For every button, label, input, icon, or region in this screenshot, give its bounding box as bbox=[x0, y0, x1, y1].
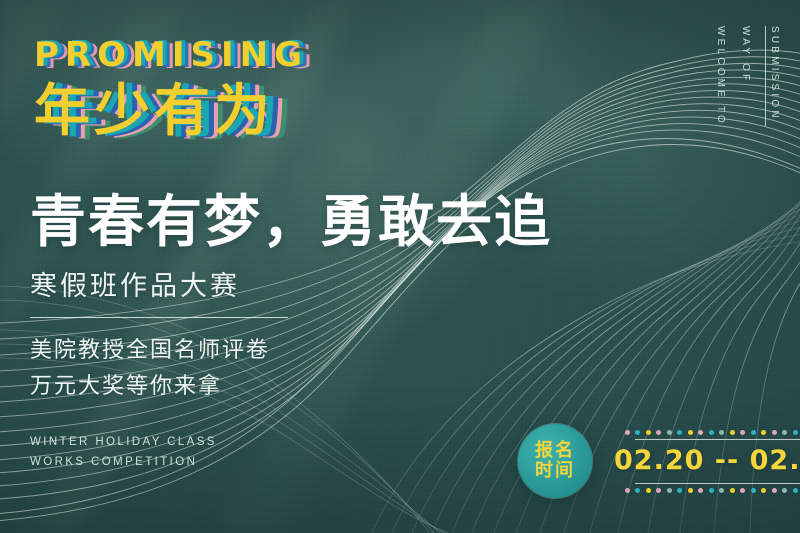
poster-canvas: PROMISING PROMISING PROMISING PROMISING … bbox=[0, 0, 800, 533]
dot-2 bbox=[635, 488, 640, 493]
dot-row-top bbox=[625, 430, 800, 435]
logo-english-text: PROMISING bbox=[34, 35, 308, 75]
english-caption-line-2: WORKS COMPETITION bbox=[30, 452, 217, 472]
dot-6 bbox=[677, 488, 682, 493]
dot-10 bbox=[719, 488, 724, 493]
headline: 青春有梦，勇敢去追 bbox=[30, 193, 690, 252]
vertical-caption-line-3: SUBMISSION bbox=[765, 26, 780, 126]
dot-14 bbox=[761, 430, 766, 435]
dot-9 bbox=[709, 430, 714, 435]
date-range-text: 02.20 -- 02.28 bbox=[614, 444, 800, 479]
dot-12 bbox=[740, 430, 745, 435]
dot-8 bbox=[698, 488, 703, 493]
logo-block: PROMISING PROMISING PROMISING PROMISING … bbox=[34, 38, 308, 150]
dot-4 bbox=[656, 430, 661, 435]
date-range-block: 02.20 -- 02.28 bbox=[614, 430, 800, 493]
dot-4 bbox=[656, 488, 661, 493]
registration-badge: 报名 时间 bbox=[518, 424, 592, 498]
bullet-item-1: 美院教授全国名师评卷 bbox=[30, 332, 690, 368]
divider-line bbox=[30, 317, 288, 318]
dot-11 bbox=[730, 488, 735, 493]
dot-13 bbox=[751, 430, 756, 435]
dot-1 bbox=[625, 430, 630, 435]
dot-14 bbox=[761, 488, 766, 493]
dot-7 bbox=[688, 430, 693, 435]
subheadline: 寒假班作品大赛 bbox=[30, 264, 690, 303]
registration-badge-line-2: 时间 bbox=[535, 461, 575, 481]
dot-17 bbox=[793, 430, 798, 435]
vertical-caption: SUBMISSION WAY OF WELCOME TO bbox=[715, 26, 780, 126]
dot-15 bbox=[772, 430, 777, 435]
dot-17 bbox=[793, 488, 798, 493]
rule-bottom bbox=[635, 483, 800, 484]
dot-7 bbox=[688, 488, 693, 493]
logo-chinese-text: 年少有为 bbox=[34, 79, 274, 144]
dot-1 bbox=[625, 488, 630, 493]
bullet-list: 美院教授全国名师评卷 万元大奖等你来拿 bbox=[30, 332, 690, 403]
dot-2 bbox=[635, 430, 640, 435]
dot-13 bbox=[751, 488, 756, 493]
dot-3 bbox=[646, 488, 651, 493]
dot-12 bbox=[740, 488, 745, 493]
dot-16 bbox=[782, 430, 787, 435]
dot-8 bbox=[698, 430, 703, 435]
main-copy: 青春有梦，勇敢去追 寒假班作品大赛 美院教授全国名师评卷 万元大奖等你来拿 bbox=[30, 193, 690, 404]
english-caption: WINTER HOLIDAY CLASS WORKS COMPETITION bbox=[30, 432, 217, 472]
dot-10 bbox=[719, 430, 724, 435]
vertical-caption-line-2: WAY OF bbox=[740, 26, 751, 126]
dot-15 bbox=[772, 488, 777, 493]
logo-english-glitch: PROMISING PROMISING PROMISING PROMISING bbox=[34, 38, 308, 78]
english-caption-line-1: WINTER HOLIDAY CLASS bbox=[30, 432, 217, 452]
dot-row-bottom bbox=[625, 488, 800, 493]
logo-chinese-glitch: 年少有为 年少有为 年少有为 年少有为 年少有为 bbox=[34, 84, 308, 150]
dot-16 bbox=[782, 488, 787, 493]
registration-date-area: 报名 时间 02.20 -- 02.28 bbox=[518, 424, 800, 498]
vertical-caption-line-1: WELCOME TO bbox=[715, 26, 726, 126]
bullet-item-2: 万元大奖等你来拿 bbox=[30, 368, 690, 404]
registration-badge-line-1: 报名 bbox=[535, 441, 575, 461]
dot-5 bbox=[667, 488, 672, 493]
dot-3 bbox=[646, 430, 651, 435]
dot-6 bbox=[677, 430, 682, 435]
rule-top bbox=[635, 439, 800, 440]
dot-11 bbox=[730, 430, 735, 435]
dot-9 bbox=[709, 488, 714, 493]
dot-5 bbox=[667, 430, 672, 435]
